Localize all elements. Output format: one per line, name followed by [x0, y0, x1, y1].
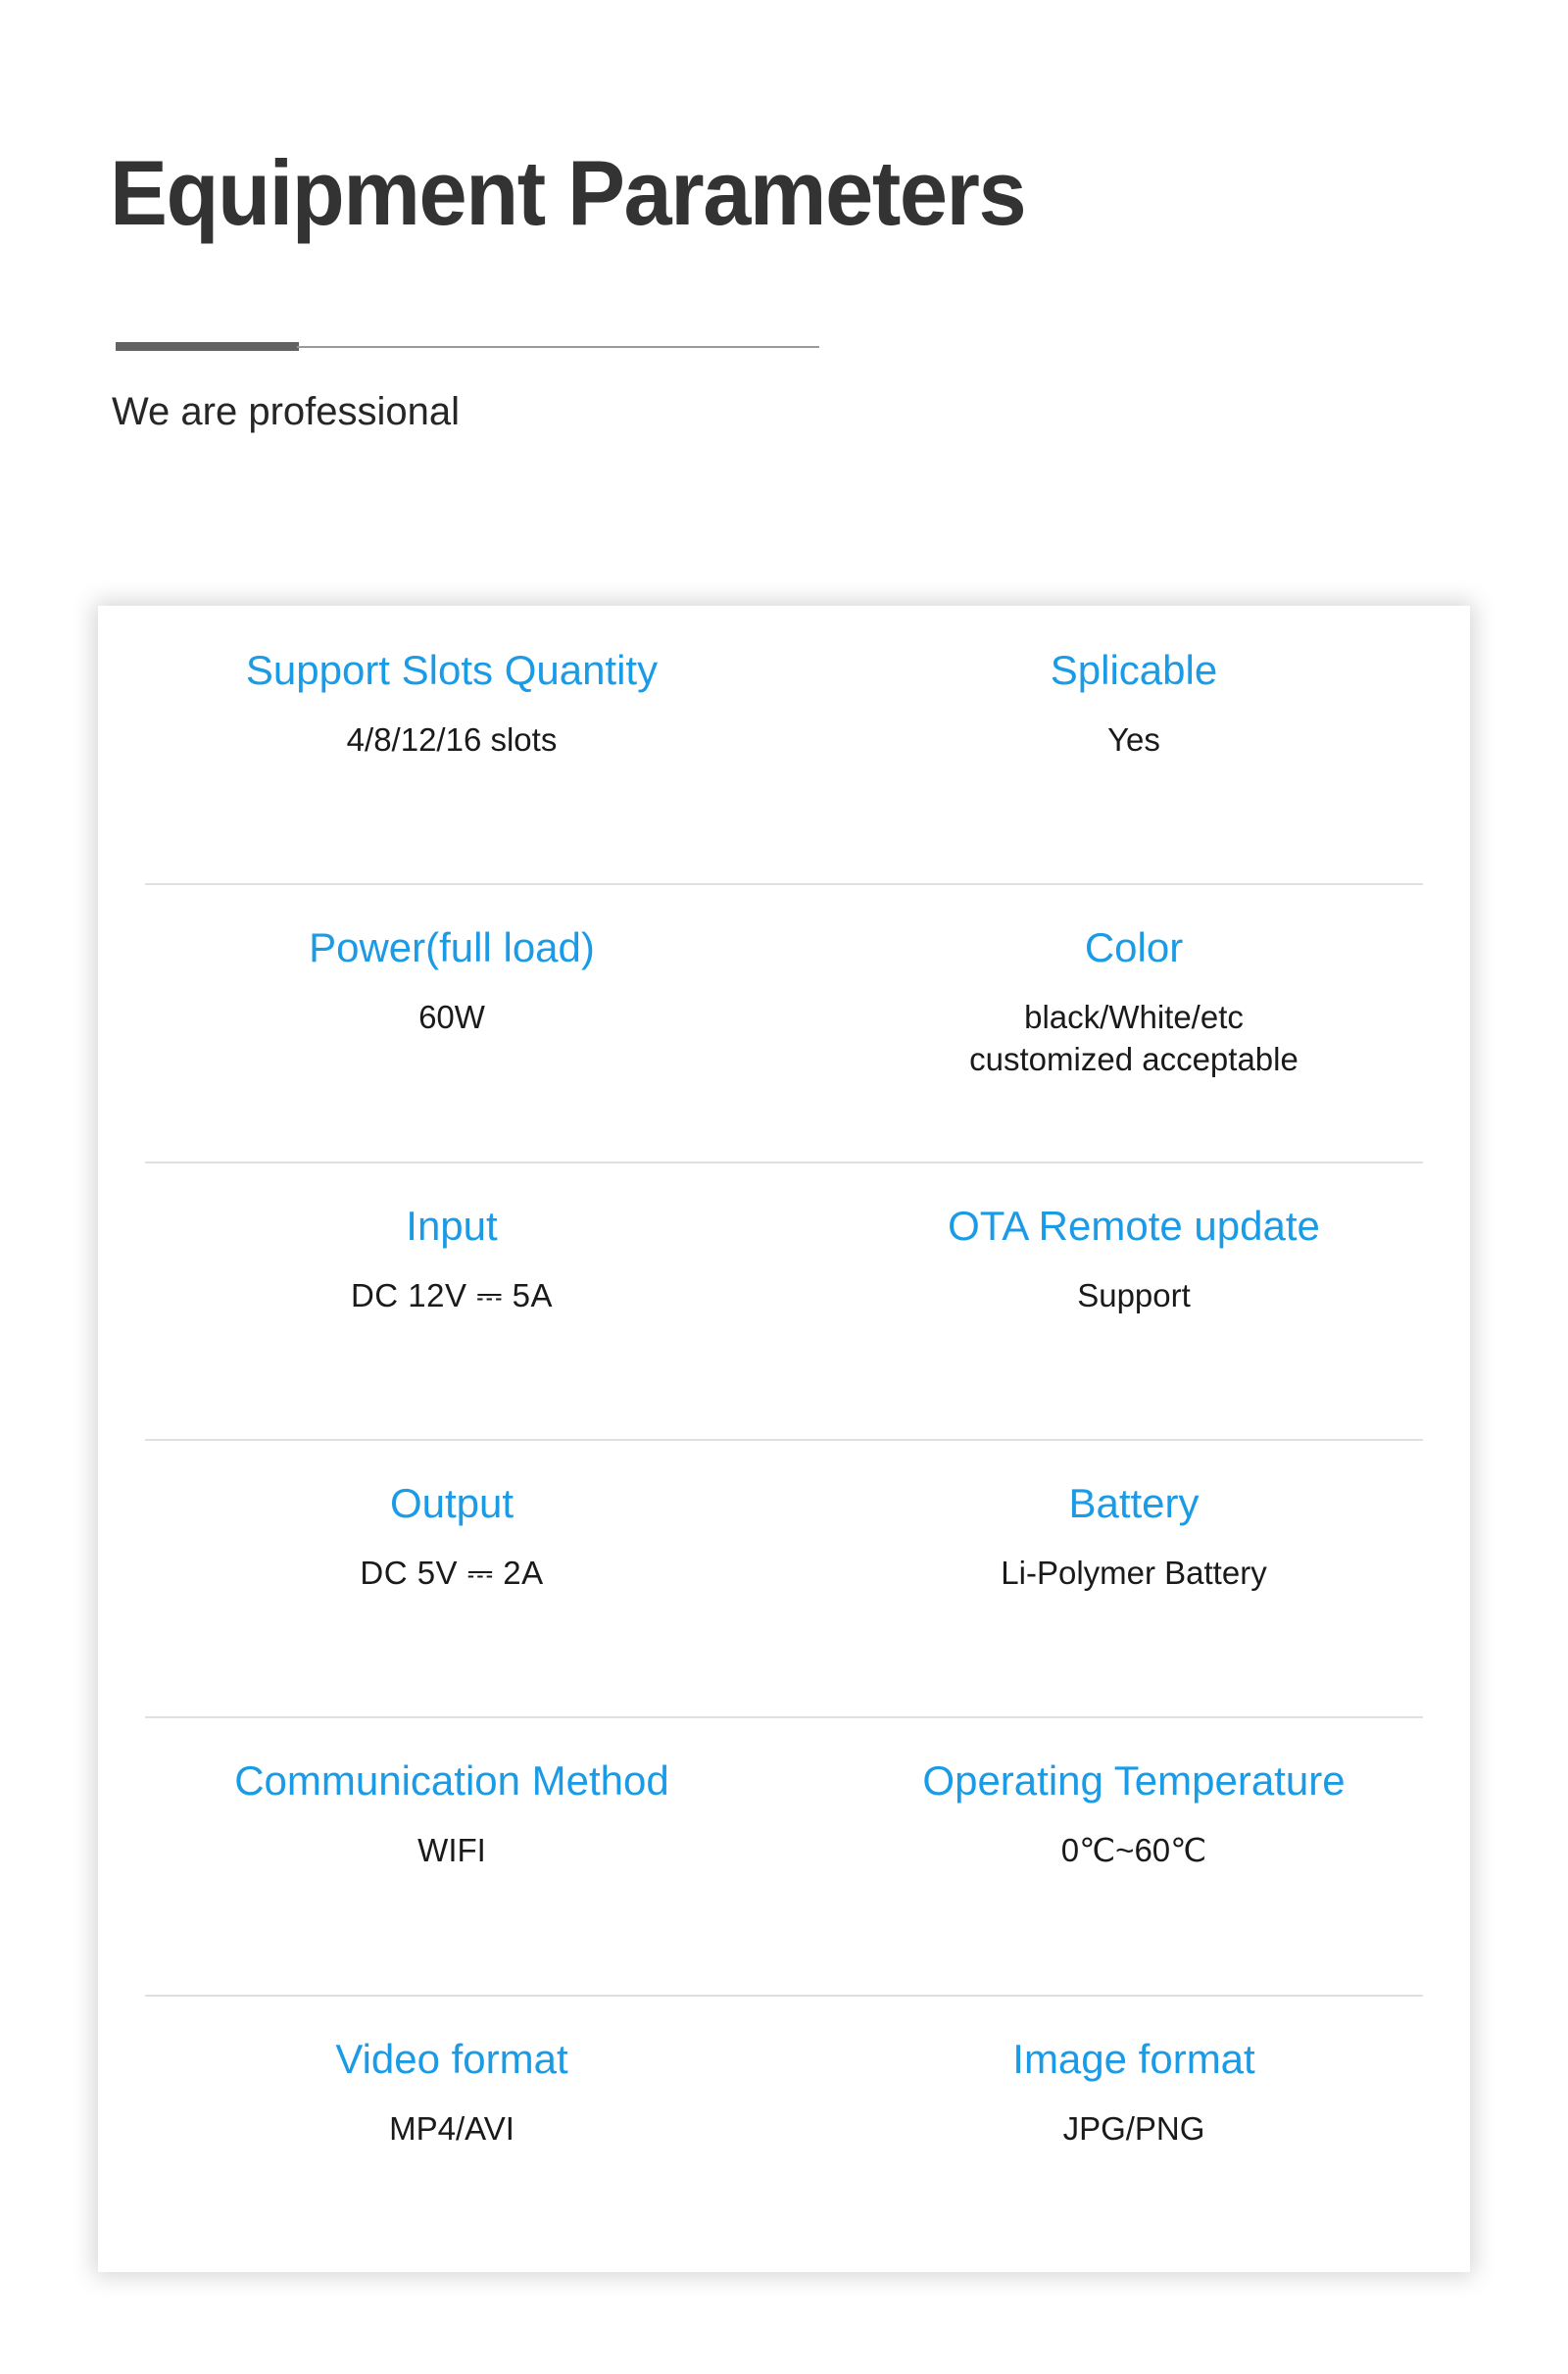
spec-value: Li-Polymer Battery — [1001, 1553, 1266, 1594]
spec-value: 4/8/12/16 slots — [347, 719, 558, 761]
title-divider-thin-segment — [297, 346, 819, 348]
spec-cell-splicable: Splicable Yes — [788, 649, 1470, 761]
table-row: Output DC 5V ⎓ 2A Battery Li-Polymer Bat… — [98, 1439, 1470, 1716]
spec-cell-image-format: Image format JPG/PNG — [788, 2038, 1470, 2150]
spec-cell-communication-method: Communication Method WIFI — [98, 1759, 788, 1871]
table-row: Power(full load) 60W Color black/White/e… — [98, 883, 1470, 1161]
spec-label: Communication Method — [234, 1759, 669, 1803]
spec-label: Support Slots Quantity — [246, 649, 658, 692]
spec-card: Support Slots Quantity 4/8/12/16 slots S… — [98, 606, 1470, 2272]
spec-cell-battery: Battery Li-Polymer Battery — [788, 1482, 1470, 1594]
spec-cell-color: Color black/White/etc customized accepta… — [788, 926, 1470, 1080]
spec-cell-support-slots-quantity: Support Slots Quantity 4/8/12/16 slots — [98, 649, 788, 761]
table-row: Communication Method WIFI Operating Temp… — [98, 1716, 1470, 1994]
spec-value: JPG/PNG — [1063, 2108, 1205, 2150]
spec-label: Input — [406, 1205, 497, 1248]
table-row: Video format MP4/AVI Image format JPG/PN… — [98, 1995, 1470, 2272]
spec-value: WIFI — [417, 1830, 486, 1871]
spec-value: black/White/etc customized acceptable — [969, 997, 1298, 1079]
spec-label: Color — [1085, 926, 1183, 969]
page-subtitle: We are professional — [112, 390, 460, 434]
spec-label: Splicable — [1051, 649, 1217, 692]
spec-value: Support — [1077, 1275, 1191, 1316]
spec-value: Yes — [1107, 719, 1160, 761]
spec-cell-power-full-load: Power(full load) 60W — [98, 926, 788, 1038]
spec-value: 60W — [418, 997, 485, 1038]
spec-cell-input: Input DC 12V ⎓ 5A — [98, 1205, 788, 1316]
table-row: Support Slots Quantity 4/8/12/16 slots S… — [98, 606, 1470, 883]
spec-cell-ota-remote-update: OTA Remote update Support — [788, 1205, 1470, 1316]
table-row: Input DC 12V ⎓ 5A OTA Remote update Supp… — [98, 1162, 1470, 1439]
title-divider-thick-segment — [116, 342, 299, 351]
spec-label: Power(full load) — [309, 926, 595, 969]
spec-value: MP4/AVI — [389, 2108, 514, 2150]
spec-cell-operating-temperature: Operating Temperature 0℃~60℃ — [788, 1759, 1470, 1871]
spec-label: OTA Remote update — [948, 1205, 1320, 1248]
page-title: Equipment Parameters — [110, 147, 1025, 239]
spec-label: Output — [390, 1482, 514, 1525]
spec-value: DC 12V ⎓ 5A — [351, 1275, 553, 1316]
spec-label: Image format — [1012, 2038, 1254, 2081]
spec-label: Operating Temperature — [922, 1759, 1345, 1803]
title-divider — [116, 341, 819, 352]
spec-label: Video format — [335, 2038, 567, 2081]
spec-label: Battery — [1068, 1482, 1199, 1525]
spec-cell-output: Output DC 5V ⎓ 2A — [98, 1482, 788, 1594]
spec-value: 0℃~60℃ — [1061, 1830, 1206, 1871]
spec-cell-video-format: Video format MP4/AVI — [98, 2038, 788, 2150]
spec-value: DC 5V ⎓ 2A — [360, 1553, 543, 1594]
spec-table: Support Slots Quantity 4/8/12/16 slots S… — [98, 606, 1470, 2272]
